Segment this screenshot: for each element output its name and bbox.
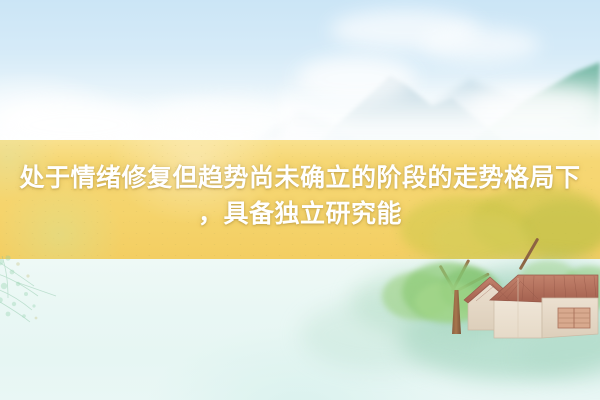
scene-canvas: 处于情绪修复但趋势尚未确立的阶段的走势格局下 ，具备独立研究能	[0, 0, 600, 400]
house-shapes	[460, 268, 600, 348]
cloud	[470, 86, 600, 130]
left-edge-foliage	[0, 252, 68, 332]
caption-overlay: 处于情绪修复但趋势尚未确立的阶段的走势格局下 ，具备独立研究能	[0, 160, 600, 232]
caption-line-1: 处于情绪修复但趋势尚未确立的阶段的走势格局下	[0, 160, 600, 196]
cloud	[150, 96, 320, 142]
cloud	[296, 56, 416, 102]
cottage-house	[460, 268, 600, 348]
caption-line-2: ，具备独立研究能	[0, 196, 600, 232]
